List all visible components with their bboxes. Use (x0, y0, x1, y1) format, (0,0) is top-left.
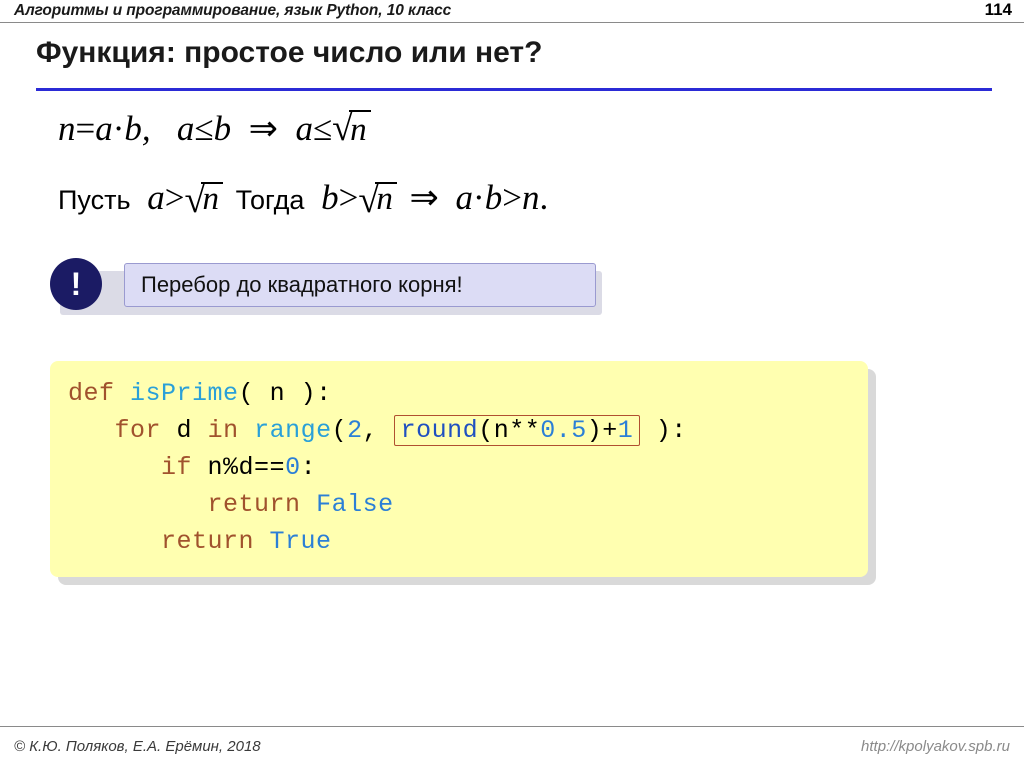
code-num-1: 1 (618, 416, 634, 445)
formula2-dot: · (473, 178, 485, 217)
sqrt-n-1: √n (332, 108, 367, 149)
formula2-b: b (321, 178, 339, 217)
code-fn-isprime: isPrime (130, 379, 239, 408)
code-round-tail: )+ (587, 416, 618, 445)
code-content: def isPrime( n ): for d in range(2, roun… (68, 375, 687, 560)
code-highlight-box: round(n**0.5)+1 (394, 415, 641, 446)
formula-a3: a (295, 109, 313, 148)
formula-eq: = (76, 109, 96, 148)
radical-sign-icon: √ (184, 178, 205, 222)
formula-line-1: n=a·b, a≤b ⇒ a≤√n (58, 108, 367, 149)
code-paren: ( (332, 416, 348, 445)
sqrt-n-3: √n (358, 180, 393, 218)
formula-line-2: Пусть a>√n Тогда b>√n ⇒ a·b>n. (58, 178, 548, 218)
code-comma: , (363, 416, 394, 445)
code-kw-if: if (161, 453, 192, 482)
code-true: True (270, 527, 332, 556)
header-divider (0, 22, 1024, 23)
sqrt-n-2: √n (184, 180, 219, 218)
page-number: 114 (985, 0, 1012, 20)
callout-text: Перебор до квадратного корня! (141, 272, 463, 298)
code-kw-return-2: return (161, 527, 254, 556)
code-fn-range: range (254, 416, 332, 445)
formula2-gt-2: > (339, 178, 359, 217)
radical-bar (201, 182, 223, 184)
code-num-05: 0.5 (540, 416, 587, 445)
callout-box: Перебор до квадратного корня! (124, 263, 596, 307)
code-var-d: d (177, 416, 193, 445)
code-false: False (316, 490, 394, 519)
formula2-b2: b (485, 178, 503, 217)
word-then: Тогда (236, 185, 305, 215)
code-num-2: 2 (347, 416, 363, 445)
formula-le-1: ≤ (194, 109, 213, 148)
formula-b2: b (214, 109, 232, 148)
formula-implies-1: ⇒ (249, 109, 278, 148)
formula-b-comma: b, (124, 109, 150, 148)
page-title: Функция: простое число или нет? (36, 36, 542, 70)
code-kw-def: def (68, 379, 115, 408)
formula2-a: a (147, 178, 165, 217)
radical-sign-icon: √ (358, 178, 379, 222)
slide: Алгоритмы и программирование, язык Pytho… (0, 0, 1024, 767)
code-block: def isPrime( n ): for d in range(2, roun… (50, 361, 868, 577)
formula-n: n (58, 109, 76, 148)
formula-dot: · (113, 109, 125, 148)
header-title: Алгоритмы и программирование, язык Pytho… (14, 2, 451, 20)
radical-bar (349, 110, 371, 112)
formula2-gt-1: > (165, 178, 185, 217)
code-range-tail: ): (640, 416, 687, 445)
formula2-n: n (522, 178, 540, 217)
code-round-args: (n** (478, 416, 540, 445)
formula2-implies: ⇒ (410, 178, 439, 217)
radical-bar (375, 182, 397, 184)
formula2-a2: a (456, 178, 474, 217)
code-cond: n%d== (208, 453, 286, 482)
slide-header: Алгоритмы и программирование, язык Pytho… (0, 0, 1024, 22)
footer-copyright: © К.Ю. Поляков, Е.А. Ерёмин, 2018 (14, 738, 261, 755)
formula2-gt-3: > (502, 178, 522, 217)
footer-url[interactable]: http://kpolyakov.spb.ru (861, 738, 1010, 755)
formula2-period: . (539, 178, 548, 217)
title-underline (36, 88, 992, 91)
formula-le-2: ≤ (313, 109, 332, 148)
code-num-0: 0 (285, 453, 301, 482)
footer-divider (0, 726, 1024, 727)
code-fn-round: round (401, 416, 479, 445)
code-colon: : (301, 453, 317, 482)
exclamation-badge-icon: ! (50, 258, 102, 310)
word-let: Пусть (58, 185, 131, 215)
code-kw-return-1: return (208, 490, 301, 519)
radical-sign-icon: √ (332, 106, 353, 150)
formula-a2: a (177, 109, 195, 148)
code-kw-for: for (115, 416, 162, 445)
code-params: ( n ): (239, 379, 332, 408)
code-kw-in: in (208, 416, 239, 445)
formula-a: a (95, 109, 113, 148)
